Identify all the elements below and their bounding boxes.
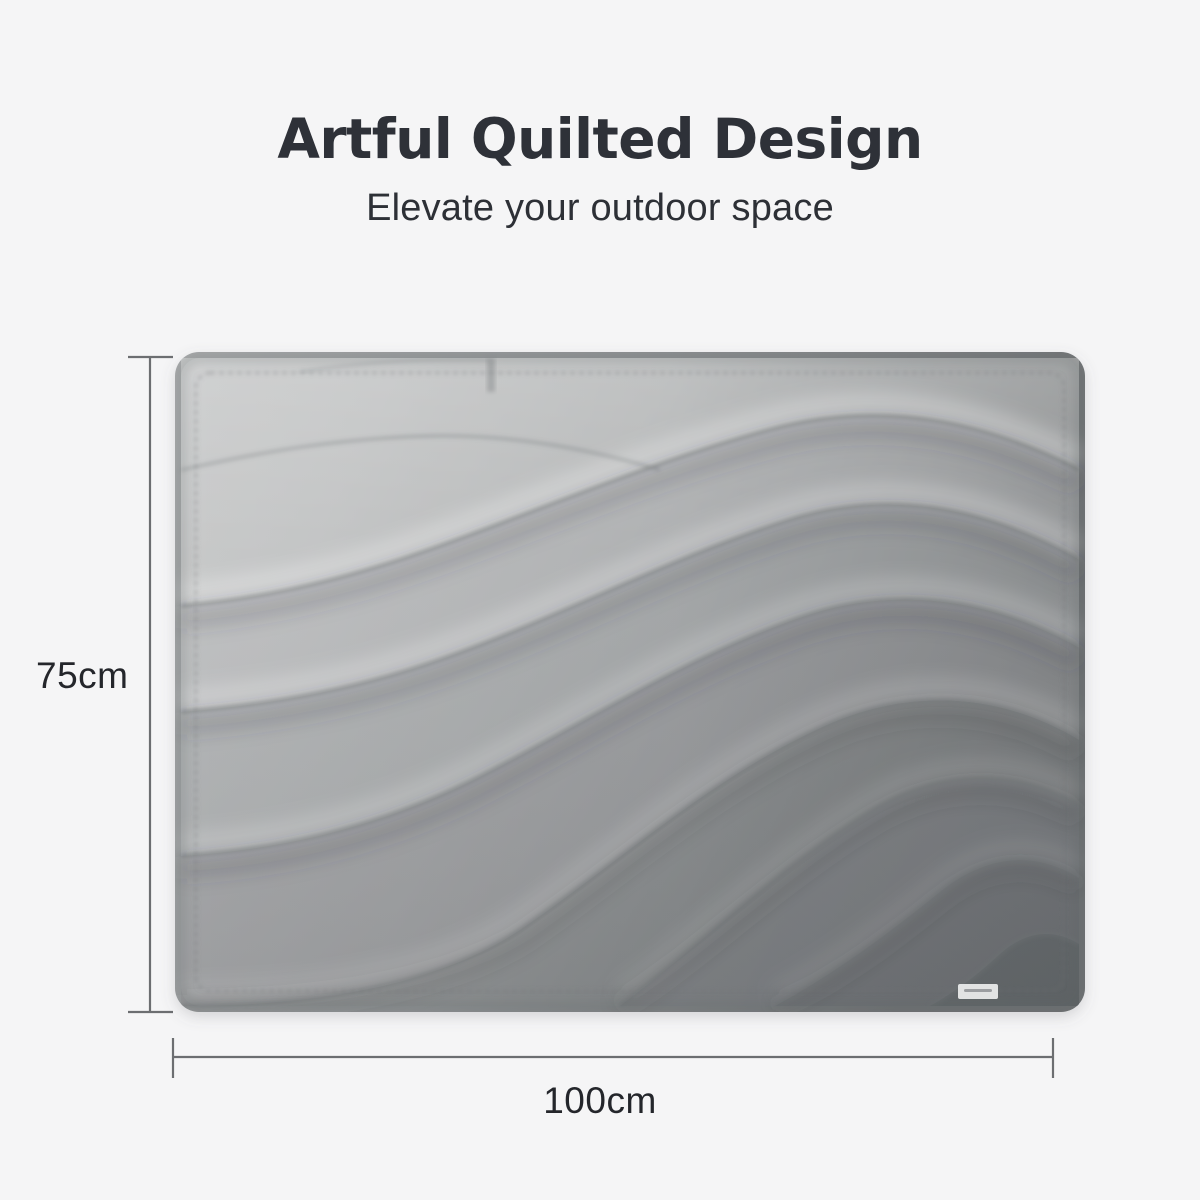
quilt-pattern xyxy=(181,358,1079,1006)
height-measure xyxy=(128,357,173,1012)
brand-tag xyxy=(958,984,998,999)
product-stage xyxy=(0,0,1200,1200)
infographic-page: Artful Quilted Design Elevate your outdo… xyxy=(0,0,1200,1200)
width-measure xyxy=(173,1038,1053,1078)
brand-tag-text xyxy=(964,989,992,992)
width-dimension-label: 100cm xyxy=(0,1080,1200,1122)
height-dimension-label: 75cm xyxy=(36,655,128,697)
product-illustration xyxy=(0,0,1200,1200)
